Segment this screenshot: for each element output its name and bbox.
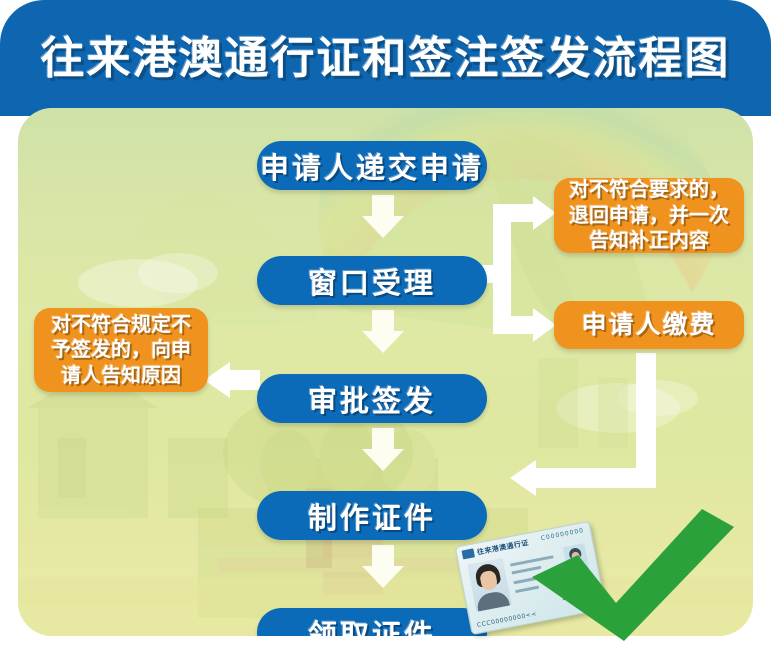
arrow-step1-step2 bbox=[362, 195, 404, 238]
flow-node-step-3[interactable]: 审批签发 bbox=[257, 374, 487, 423]
flow-node-label: 窗口受理 bbox=[308, 260, 436, 302]
green-check-icon bbox=[520, 505, 750, 645]
arrow-step2-branch bbox=[473, 196, 556, 342]
arrow-step3-note-left bbox=[204, 362, 260, 398]
flow-node-label: 领取证件 bbox=[308, 612, 436, 637]
flow-note-payment[interactable]: 申请人缴费 bbox=[554, 301, 744, 349]
flow-node-step-1[interactable]: 申请人递交申请 bbox=[257, 141, 487, 190]
flow-node-label: 审批签发 bbox=[308, 378, 436, 420]
flow-node-step-2[interactable]: 窗口受理 bbox=[257, 256, 487, 305]
arrow-step4-step5 bbox=[362, 545, 404, 588]
flow-note-label: 申请人缴费 bbox=[581, 309, 716, 341]
flow-node-label: 制作证件 bbox=[308, 495, 436, 537]
flow-note-label: 对不符合规定不予签发的，向申请人告知原因 bbox=[44, 312, 198, 389]
flow-node-label: 申请人递交申请 bbox=[260, 145, 484, 187]
national-emblem-icon bbox=[462, 548, 475, 559]
arrow-step2-step3 bbox=[362, 310, 404, 353]
flow-node-step-4[interactable]: 制作证件 bbox=[257, 491, 487, 540]
poster-header: 往来港澳通行证和签注签发流程图 bbox=[0, 0, 771, 116]
flow-node-step-5[interactable]: 领取证件 bbox=[257, 608, 487, 636]
card-portrait bbox=[467, 558, 511, 612]
flow-note-label: 对不符合要求的，退回申请，并一次告知补正内容 bbox=[564, 177, 734, 254]
arrow-step3-step4 bbox=[362, 428, 404, 471]
flow-note-reject-incomplete[interactable]: 对不符合要求的，退回申请，并一次告知补正内容 bbox=[554, 178, 744, 253]
flow-note-reject-denied[interactable]: 对不符合规定不予签发的，向申请人告知原因 bbox=[34, 308, 208, 392]
arrow-payment-to-step4 bbox=[510, 353, 656, 496]
flowchart-poster: 往来港澳通行证和签注签发流程图 bbox=[0, 0, 771, 644]
page-title: 往来港澳通行证和签注签发流程图 bbox=[0, 22, 771, 86]
